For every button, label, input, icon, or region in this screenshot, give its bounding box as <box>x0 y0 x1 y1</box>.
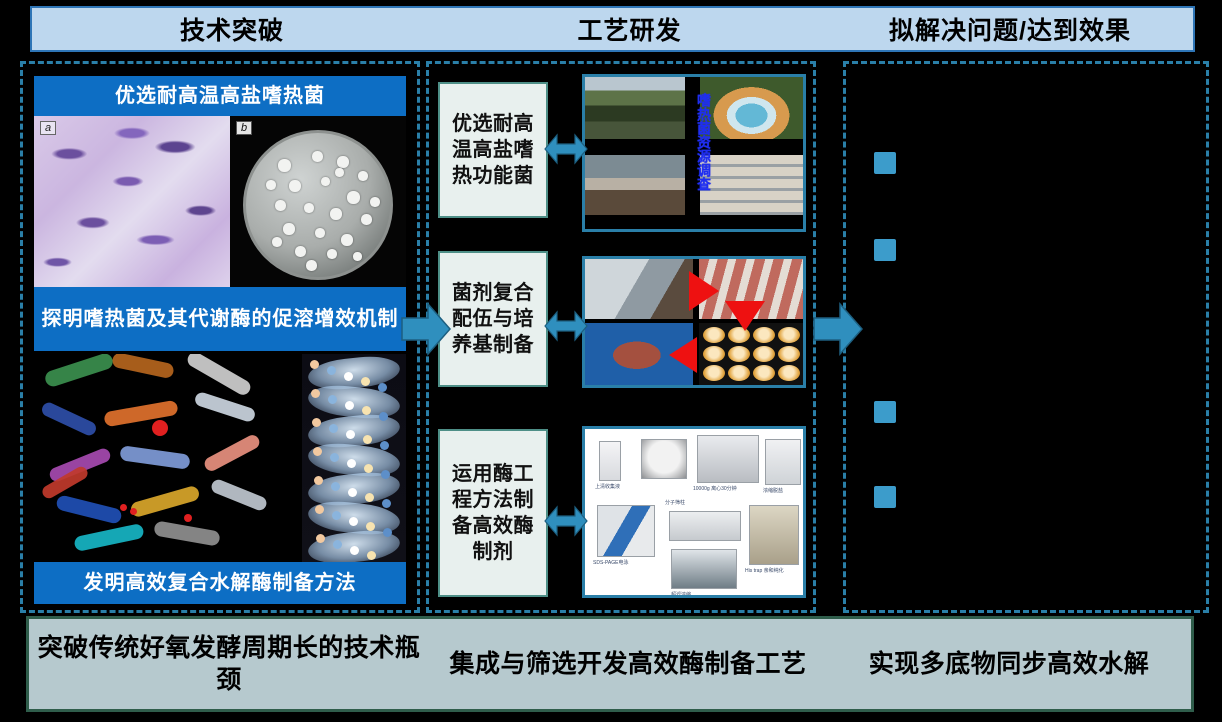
header-column-problems-effects: 拟解决问题/达到效果 <box>827 11 1193 47</box>
left-bottom-label: 发明高效复合水解酶制备方法 <box>34 562 406 604</box>
arrow-middle-to-right <box>812 300 864 363</box>
right-bullet-3 <box>874 401 896 423</box>
left-middle-label: 探明嗜热菌及其代谢酶的促溶增效机制 <box>34 287 406 351</box>
right-bullet-2 <box>874 239 896 261</box>
photo-compost-greenhouse <box>585 155 685 215</box>
red-arrow-right-top <box>689 271 719 311</box>
stage-box-2: 菌剂复合配伍与培养基制备 <box>438 251 548 387</box>
purification-caption: 上清收集液 <box>595 483 620 490</box>
purification-caption: SDS-PAGE电泳 <box>593 559 628 566</box>
petri-dish-shape <box>243 130 393 280</box>
photo-microwell-plate <box>699 323 803 385</box>
footer-column-2: 集成与筛选开发高效酶制备工艺 <box>429 619 827 709</box>
header-column-technology-breakthrough: 技术突破 <box>32 11 432 47</box>
agar-plate-tag: b <box>236 121 252 135</box>
micrograph-image: a <box>34 116 230 288</box>
panel1-vertical-caption: 嗜热菌资源调查 <box>689 93 711 191</box>
purification-caption: His trap 亲和纯化 <box>745 567 784 574</box>
photo-panel-strain-culture <box>582 256 806 388</box>
photo-hot-spring <box>700 77 803 139</box>
red-arrow-down <box>725 301 765 331</box>
left-column-panel: 优选耐高温高盐嗜热菌 a b 探明嗜热菌及其代谢酶的促溶增效机制 发明高效复合水… <box>20 61 420 613</box>
purification-caption: 浓缩脱盐 <box>763 487 783 494</box>
purification-caption: 分子筛柱 <box>665 499 685 506</box>
photo-volcano-crater <box>585 77 685 139</box>
double-arrow-stage-3 <box>543 500 589 547</box>
purification-caption: 超滤浓缩 <box>671 591 691 598</box>
micrograph-tag: a <box>40 121 56 135</box>
middle-column-panel: 优选耐高温高盐嗜热功能菌 菌剂复合配伍与培养基制备 运用酶工程方法制备高效酶制剂… <box>426 61 816 613</box>
right-column-panel <box>843 61 1209 613</box>
footer-bar: 突破传统好氧发酵周期长的技术瓶颈 集成与筛选开发高效酶制备工艺 实现多底物同步高… <box>26 616 1194 712</box>
slide-canvas: 技术突破 工艺研发 拟解决问题/达到效果 优选耐高温高盐嗜热菌 a b 探明嗜热… <box>0 0 1222 722</box>
photo-scientist-biosafety-cabinet <box>585 259 693 319</box>
arrow-left-to-middle <box>400 300 452 363</box>
left-image-pair: a b <box>34 116 406 288</box>
right-bullet-1 <box>874 152 896 174</box>
stage-box-3: 运用酶工程方法制备高效酶制剂 <box>438 429 548 597</box>
footer-column-3: 实现多底物同步高效水解 <box>827 619 1191 709</box>
right-bullet-4 <box>874 486 896 508</box>
stage-box-1: 优选耐高温高盐嗜热功能菌 <box>438 82 548 218</box>
photo-storage-racks <box>700 155 803 215</box>
double-arrow-stage-2 <box>543 305 589 352</box>
purification-caption: 10000g 离心30分钟 <box>693 485 737 492</box>
agar-plate-image: b <box>230 116 406 288</box>
protein-structure-image <box>34 354 302 562</box>
red-arrow-left-bottom <box>669 337 697 373</box>
double-arrow-stage-1 <box>543 128 589 175</box>
header-column-process-rnd: 工艺研发 <box>432 11 827 47</box>
footer-column-1: 突破传统好氧发酵周期长的技术瓶颈 <box>29 619 429 709</box>
photo-panel-thermophile-habitats: 嗜热菌资源调查 <box>582 74 806 232</box>
left-top-label: 优选耐高温高盐嗜热菌 <box>34 76 406 116</box>
photo-panel-enzyme-purification: 上清收集液10000g 离心30分钟浓缩脱盐SDS-PAGE电泳分子筛柱His … <box>582 426 806 598</box>
dna-helix-image <box>302 354 406 562</box>
left-science-image-pair <box>34 354 406 562</box>
header-bar: 技术突破 工艺研发 拟解决问题/达到效果 <box>30 6 1195 52</box>
